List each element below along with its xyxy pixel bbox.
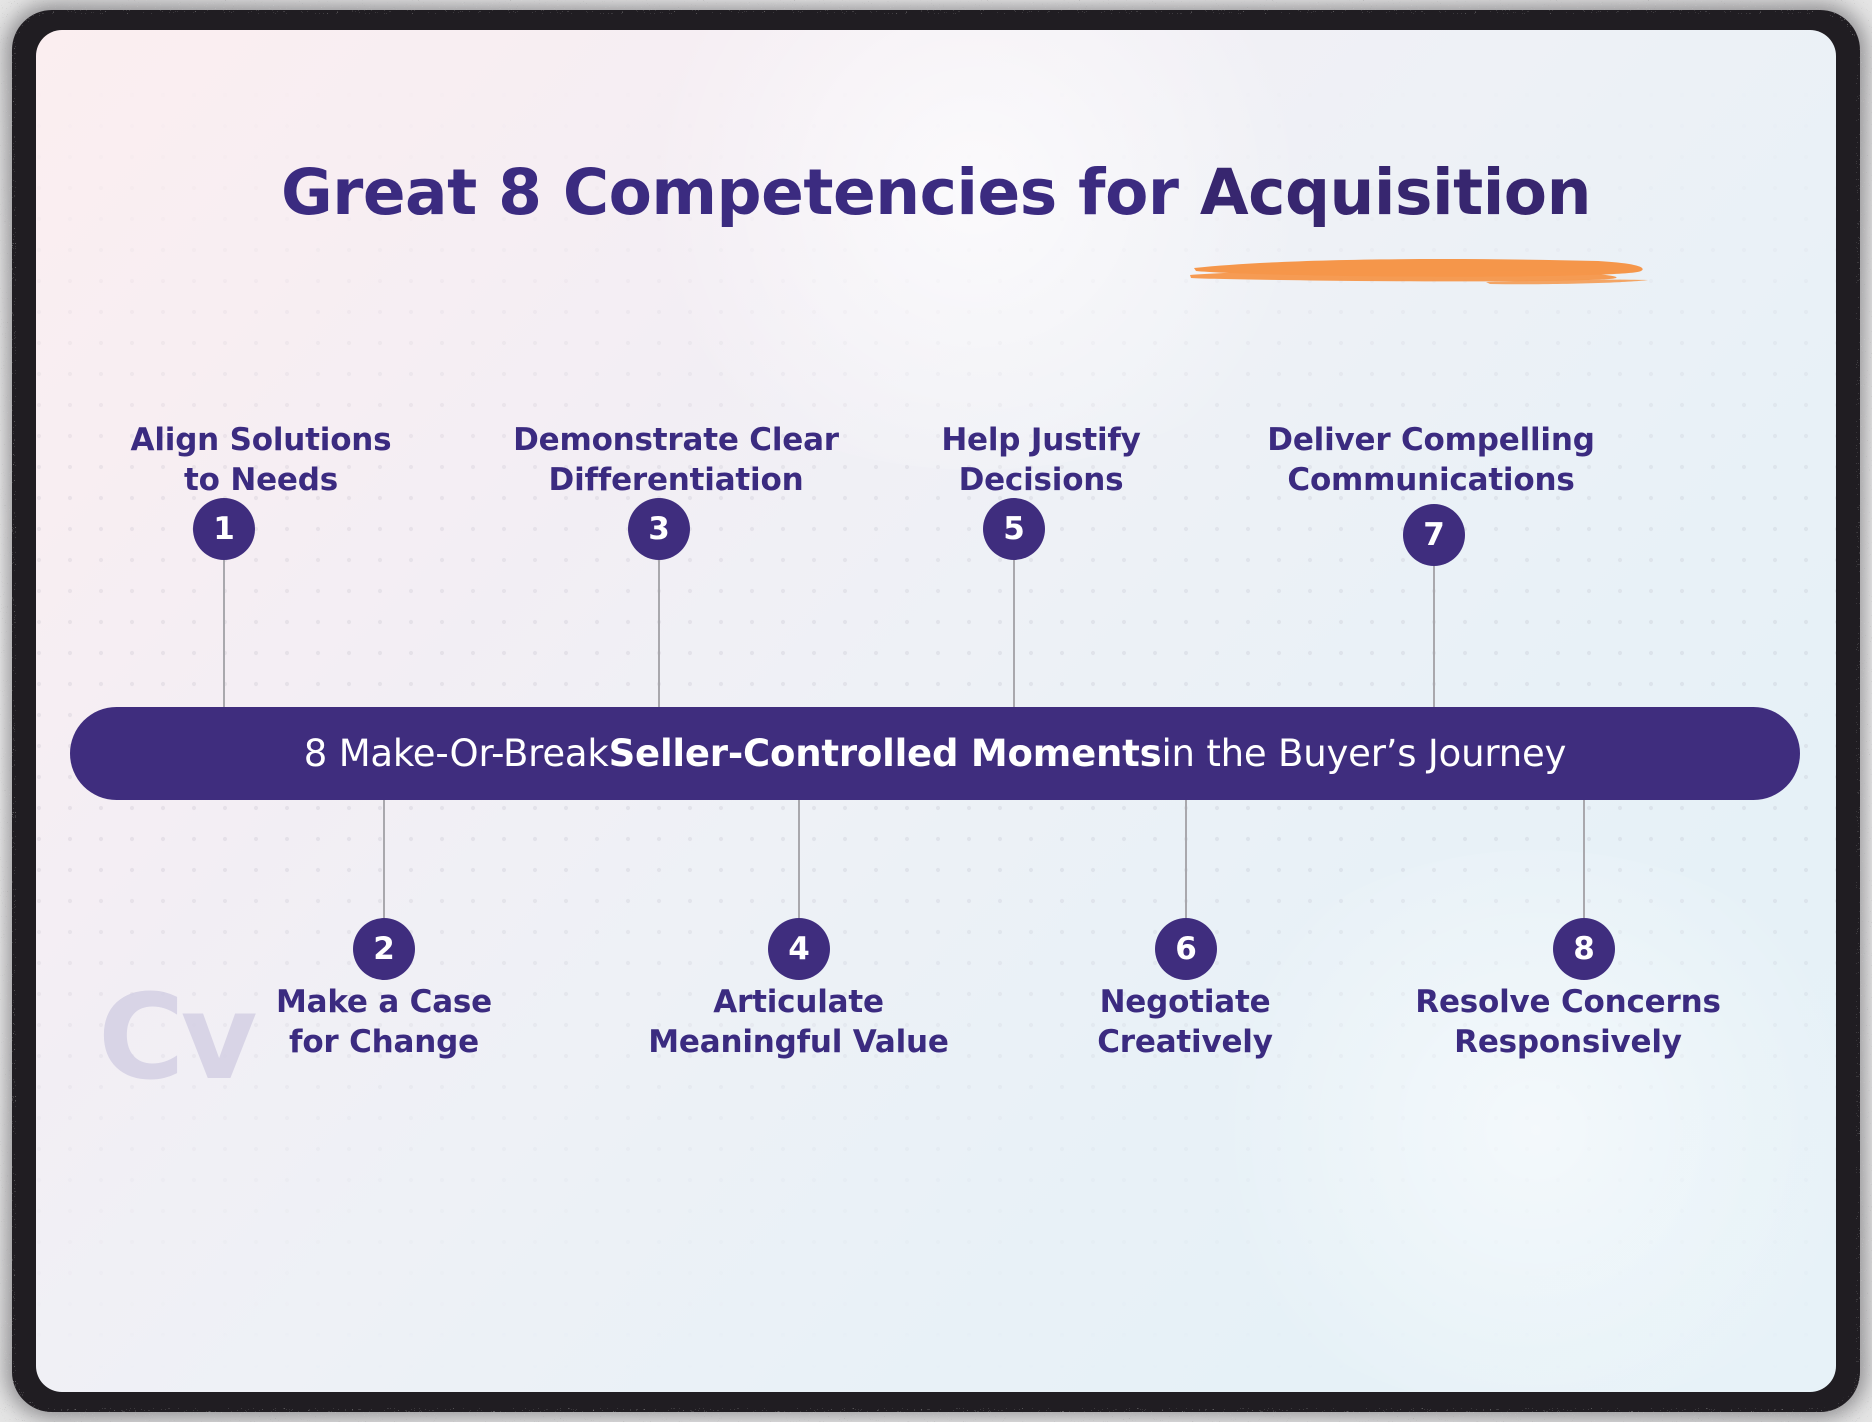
node-1[interactable]: 1	[193, 498, 255, 560]
bar-text-pre: 8 Make-Or-Break	[304, 732, 609, 775]
screenshot-frame: Great 8 Competencies for Acquisition Ali…	[0, 0, 1872, 1422]
node-2-number: 2	[373, 934, 395, 965]
competency-label-7-line1: Deliver Compelling	[1236, 420, 1626, 460]
competency-label-5-line2: Decisions	[876, 460, 1206, 500]
competency-label-7-line2: Communications	[1236, 460, 1626, 500]
node-4[interactable]: 4	[768, 918, 830, 980]
slide-card: Great 8 Competencies for Acquisition Ali…	[36, 30, 1836, 1392]
competency-label-8: Resolve Concerns Responsively	[1388, 982, 1748, 1063]
competency-label-4: Articulate Meaningful Value	[606, 982, 991, 1063]
competency-label-8-line1: Resolve Concerns	[1388, 982, 1748, 1022]
competency-label-1: Align Solutions to Needs	[81, 420, 441, 501]
title-lead: Great 8 Competencies for	[281, 156, 1200, 229]
node-8-number: 8	[1573, 934, 1595, 965]
bar-text-strong: Seller-Controlled Moments	[609, 732, 1162, 775]
competency-label-3-line1: Demonstrate Clear	[481, 420, 871, 460]
node-1-number: 1	[213, 514, 235, 545]
connector-3	[658, 560, 660, 710]
light-bloom-top	[596, 30, 1356, 470]
competency-label-5: Help Justify Decisions	[876, 420, 1206, 501]
center-headline-bar: 8 Make-Or-Break Seller-Controlled Moment…	[70, 707, 1800, 800]
node-7[interactable]: 7	[1403, 504, 1465, 566]
node-6-number: 6	[1175, 934, 1197, 965]
competency-label-7: Deliver Compelling Communications	[1236, 420, 1626, 501]
node-8[interactable]: 8	[1553, 918, 1615, 980]
competency-label-6-line1: Negotiate	[1025, 982, 1345, 1022]
competency-label-6: Negotiate Creatively	[1025, 982, 1345, 1063]
connector-4	[798, 800, 800, 918]
competency-label-1-line1: Align Solutions	[81, 420, 441, 460]
bar-text-post: in the Buyer’s Journey	[1161, 732, 1566, 775]
connector-8	[1583, 800, 1585, 918]
connector-7	[1433, 566, 1435, 710]
page-title: Great 8 Competencies for Acquisition	[36, 156, 1836, 229]
node-7-number: 7	[1423, 520, 1445, 551]
node-2[interactable]: 2	[353, 918, 415, 980]
node-5-number: 5	[1003, 514, 1025, 545]
connector-2	[383, 800, 385, 918]
light-bloom-bottom	[1186, 850, 1836, 1392]
node-4-number: 4	[788, 934, 810, 965]
node-3[interactable]: 3	[628, 498, 690, 560]
competency-label-4-line2: Meaningful Value	[606, 1022, 991, 1062]
competency-label-5-line1: Help Justify	[876, 420, 1206, 460]
node-3-number: 3	[648, 514, 670, 545]
competency-label-1-line2: to Needs	[81, 460, 441, 500]
cv-logo-watermark: Cv	[98, 978, 288, 1118]
connector-1	[223, 560, 225, 710]
node-6[interactable]: 6	[1155, 918, 1217, 980]
orange-underline-stroke	[1186, 252, 1656, 286]
title-accent: Acquisition	[1200, 156, 1591, 229]
node-5[interactable]: 5	[983, 498, 1045, 560]
competency-label-3: Demonstrate Clear Differentiation	[481, 420, 871, 501]
competency-label-6-line2: Creatively	[1025, 1022, 1345, 1062]
connector-6	[1185, 800, 1187, 918]
connector-5	[1013, 560, 1015, 710]
competency-label-8-line2: Responsively	[1388, 1022, 1748, 1062]
competency-label-4-line1: Articulate	[606, 982, 991, 1022]
competency-label-3-line2: Differentiation	[481, 460, 871, 500]
